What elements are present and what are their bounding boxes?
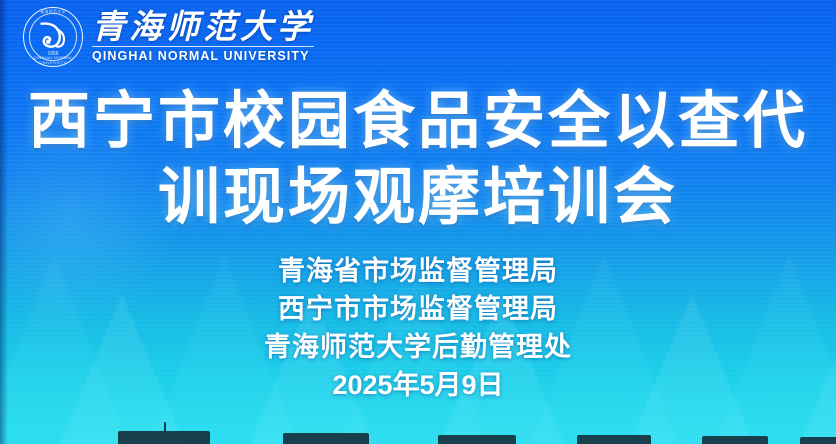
silhouette-item [283, 433, 369, 444]
silhouette-item [438, 435, 516, 444]
silhouette-item [800, 437, 836, 444]
university-logo: 青海师范大学 QINGHAI NORMAL UNIVERSITY 1956 青海… [22, 6, 314, 68]
seal-ring-text-cn: 青海师范大学 [22, 9, 84, 15]
silhouette-item [577, 435, 651, 444]
university-name-en: QINGHAI NORMAL UNIVERSITY [92, 49, 314, 63]
university-seal-icon: 青海师范大学 QINGHAI NORMAL UNIVERSITY 1956 [22, 6, 84, 68]
silhouette-item [118, 431, 210, 444]
organizer-line-1: 青海省市场监督管理局 [0, 252, 836, 290]
event-title: 西宁市校园食品安全以查代 训现场观摩培训会 [0, 84, 836, 236]
event-title-line-1: 西宁市校园食品安全以查代 [0, 84, 836, 160]
university-name-cn: 青海师范大学 [92, 11, 314, 46]
event-title-line-2: 训现场观摩培训会 [0, 160, 836, 236]
silhouette-item [702, 436, 768, 444]
event-date: 2025年5月9日 [0, 366, 836, 404]
organizer-line-2: 西宁市市场监督管理局 [0, 290, 836, 328]
conference-backdrop-screen: 青海师范大学 QINGHAI NORMAL UNIVERSITY 1956 青海… [0, 0, 836, 444]
organizer-line-3: 青海师范大学后勤管理处 [0, 328, 836, 366]
university-name-block: 青海师范大学 QINGHAI NORMAL UNIVERSITY [92, 11, 314, 64]
organizer-block: 青海省市场监督管理局 西宁市市场监督管理局 青海师范大学后勤管理处 2025年5… [0, 252, 836, 404]
logo-divider [92, 46, 314, 47]
foreground-silhouettes [0, 422, 836, 444]
seal-bird-glyph-icon [34, 18, 72, 56]
